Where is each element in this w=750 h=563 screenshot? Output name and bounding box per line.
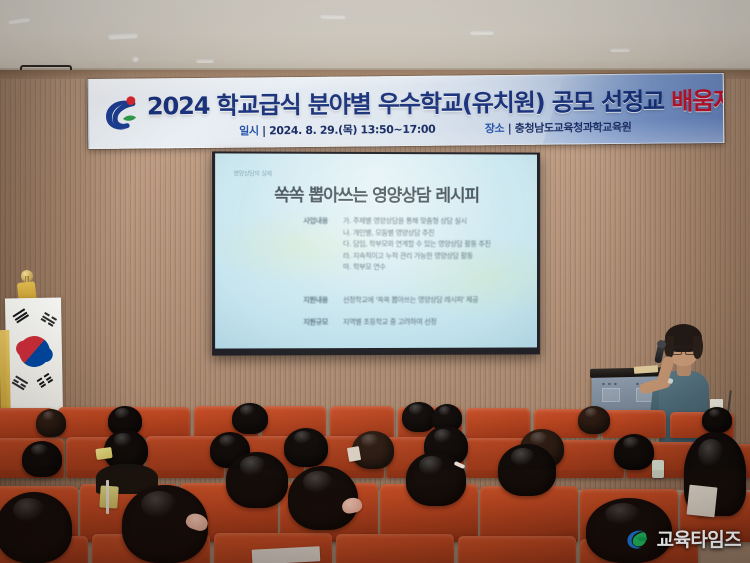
- lectern-panel-left: [602, 388, 620, 402]
- slide-bullet: 라. 지속적이고 누적 관리 가능한 영양상담 활동: [343, 251, 491, 263]
- audience-head: [402, 402, 436, 432]
- slide-bullet: 마. 학부모 연수: [343, 262, 491, 274]
- banner-sep-2: |: [508, 122, 512, 135]
- audience-head: [22, 441, 62, 477]
- audience-head: [226, 452, 288, 508]
- slide-bullet: 다. 담임, 학부모와 연계할 수 있는 영양상담 활동 추진: [343, 239, 491, 251]
- presenter-glasses: [669, 345, 698, 354]
- banner-place-label: 장소: [485, 122, 505, 135]
- audience-head: [702, 407, 732, 433]
- audience-head: [578, 406, 610, 434]
- slide-row-label: 사업내용: [215, 216, 343, 274]
- slide-bullet: 가. 주제별 영양상담을 통해 맞춤형 상담 실시: [343, 216, 491, 228]
- banner-title-main: 2024 학교급식 분야별 우수학교(유치원) 공모 선정교: [147, 87, 672, 120]
- audience-head: [614, 434, 654, 470]
- handout-paper: [252, 546, 321, 563]
- slide-row-body: 선정학교에 '쏙쏙 뽑아쓰는 영양상담 레시피' 제공: [343, 295, 478, 307]
- seat: [458, 536, 576, 563]
- banner-title-accent: 배움자리: [671, 87, 724, 116]
- korean-national-flag-taegukgi: [5, 298, 63, 419]
- projection-screen: 영양상담의 실제 쏙쏙 뽑아쓰는 영양상담 레시피 사업내용 가. 주제별 영양…: [215, 153, 537, 348]
- slide-row: 지원규모 지역별 초등학교 중 고려하여 선정: [215, 316, 537, 328]
- slide-content-rows: 사업내용 가. 주제별 영양상담을 통해 맞춤형 상담 실시 나. 개인별, 모…: [215, 216, 537, 331]
- seat: [336, 534, 454, 563]
- seat-post: [106, 480, 109, 514]
- slide-bullet: 나. 개인별, 모둠별 영양상담 추진: [343, 228, 491, 240]
- ceiling: [0, 0, 750, 74]
- banner-date-value: 2024. 8. 29.(목) 13:50~17:00: [269, 123, 435, 138]
- audience-head: [0, 492, 72, 563]
- yellow-item: [95, 447, 112, 460]
- slide-eyebrow: 영양상담의 실제: [233, 169, 271, 178]
- event-banner: 2024 학교급식 분야별 우수학교(유치원) 공모 선정교 배움자리 일시 |…: [88, 73, 725, 149]
- slide-row: 지원내용 선정학교에 '쏙쏙 뽑아쓰는 영양상담 레시피' 제공: [215, 295, 537, 307]
- audience-head: [406, 452, 466, 506]
- audience-head: [232, 403, 268, 434]
- audience-head: [498, 444, 556, 496]
- banner-sep-1: |: [262, 124, 266, 137]
- slide-title: 쏙쏙 뽑아쓰는 영양상담 레시피: [215, 181, 537, 207]
- audience-head: [586, 498, 672, 563]
- trigram-gam: [40, 312, 58, 328]
- banner-date-label: 일시: [239, 124, 259, 137]
- banner-title: 2024 학교급식 분야별 우수학교(유치원) 공모 선정교 배움자리: [147, 81, 717, 121]
- slide-bullet: 선정학교에 '쏙쏙 뽑아쓰는 영양상담 레시피' 제공: [343, 295, 478, 307]
- audience-head: [36, 409, 66, 437]
- taeguk-circle: [13, 330, 55, 372]
- seminar-photograph: 2024 학교급식 분야별 우수학교(유치원) 공모 선정교 배움자리 일시 |…: [0, 0, 750, 563]
- projection-screen-frame: 영양상담의 실제 쏙쏙 뽑아쓰는 영양상담 레시피 사업내용 가. 주제별 영양…: [212, 151, 540, 355]
- handout-paper: [347, 446, 361, 462]
- lectern-label-left: ▪ ▪ ▪: [602, 381, 618, 386]
- trigram-ri: [11, 375, 29, 391]
- slide-row-body: 지역별 초등학교 중 고려하여 선정: [343, 316, 437, 328]
- slide-bullet: 지역별 초등학교 중 고려하여 선정: [343, 316, 437, 328]
- handout-paper: [687, 485, 718, 518]
- slide-row-body: 가. 주제별 영양상담을 통해 맞춤형 상담 실시 나. 개인별, 모둠별 영양…: [343, 216, 491, 274]
- trigram-geon: [12, 308, 30, 325]
- slide-row-label: 지원내용: [215, 295, 343, 307]
- seat-side-item: [652, 460, 664, 478]
- slide-row-label: 지원규모: [215, 317, 343, 329]
- seat: [466, 408, 530, 438]
- trigram-gon: [37, 373, 55, 390]
- chungnam-education-office-logo: [100, 92, 144, 136]
- audience-head: [284, 428, 328, 467]
- banner-place-value: 충청남도교육청과학교육원: [515, 121, 632, 135]
- slide-row: 사업내용 가. 주제별 영양상담을 통해 맞춤형 상담 실시 나. 개인별, 모…: [215, 216, 537, 274]
- yellow-item: [99, 485, 118, 508]
